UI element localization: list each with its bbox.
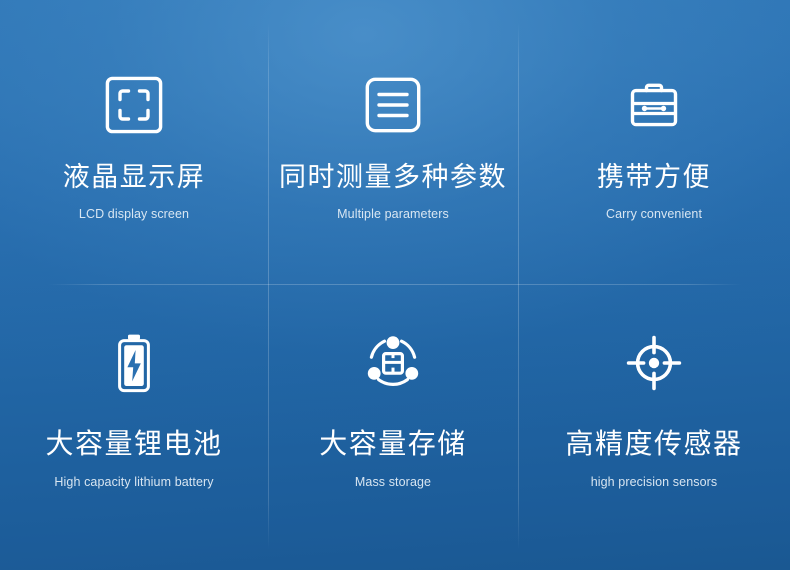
feature-cell-lcd-display-screen: 液晶显示屏 LCD display screen (0, 0, 268, 284)
list-lines-icon (365, 74, 421, 136)
feature-cell-carry-convenient: 携带方便 Carry convenient (518, 0, 790, 284)
feature-cell-multiple-parameters: 同时测量多种参数 Multiple parameters (268, 0, 518, 284)
feature-cell-lithium-battery: 大容量锂电池 High capacity lithium battery (0, 284, 268, 570)
briefcase-icon (626, 74, 682, 136)
feature-title-en: High capacity lithium battery (54, 476, 213, 489)
feature-grid: 液晶显示屏 LCD display screen 同时测量多种参数 Multip… (0, 0, 790, 570)
feature-title-en: LCD display screen (79, 208, 189, 221)
feature-cell-mass-storage: 大容量存储 Mass storage (268, 284, 518, 570)
distributed-storage-icon (364, 332, 422, 394)
feature-cell-precision-sensors: 高精度传感器 high precision sensors (518, 284, 790, 570)
feature-title-en: Carry convenient (606, 208, 702, 221)
feature-title-cn: 大容量存储 (319, 430, 467, 458)
feature-title-cn: 高精度传感器 (565, 430, 742, 458)
feature-title-cn: 同时测量多种参数 (279, 164, 507, 191)
feature-title-cn: 大容量锂电池 (45, 430, 222, 458)
lcd-screen-brackets-icon (105, 74, 163, 136)
feature-title-en: Mass storage (355, 476, 431, 489)
feature-title-en: Multiple parameters (337, 208, 449, 221)
feature-title-cn: 携带方便 (597, 164, 711, 191)
feature-title-en: high precision sensors (591, 476, 718, 489)
battery-bolt-icon (114, 332, 154, 394)
crosshair-target-icon (626, 332, 682, 394)
feature-highlights-panel: 液晶显示屏 LCD display screen 同时测量多种参数 Multip… (0, 0, 790, 570)
feature-title-cn: 液晶显示屏 (63, 164, 206, 191)
